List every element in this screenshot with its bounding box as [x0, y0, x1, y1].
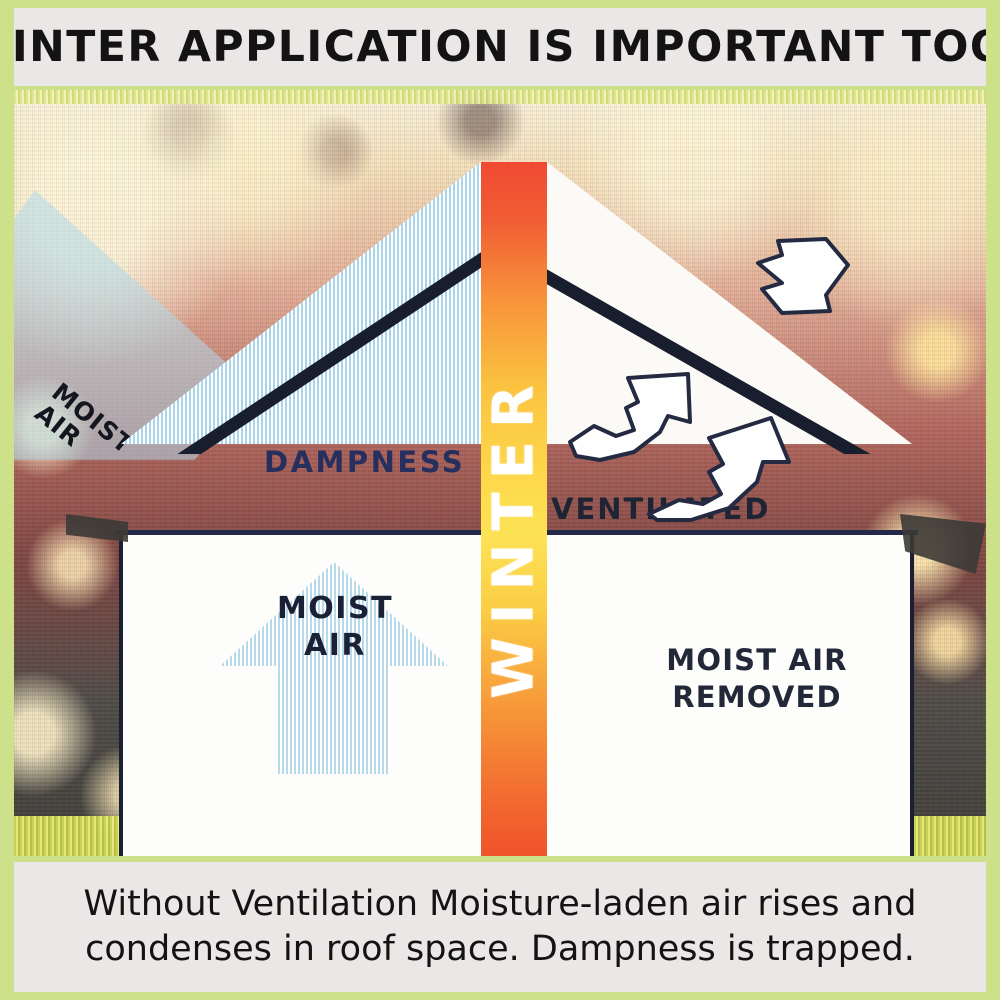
dampness-label: DAMPNESS	[264, 445, 465, 479]
diagram-illustration: MOIST AIR DAMPNESS VENTILATED	[14, 90, 986, 856]
exterior-exhaust-arrow-icon	[752, 233, 872, 328]
caption-line-2: condenses in roof space. Dampness is tra…	[85, 927, 915, 972]
background-top-strip	[14, 90, 986, 104]
title-band: WINTER APPLICATION IS IMPORTANT TOOL	[14, 8, 986, 86]
winter-season-label: WINTER	[481, 162, 547, 856]
moist-air-removed-label: MOIST AIR REMOVED	[612, 642, 902, 716]
page-title: WINTER APPLICATION IS IMPORTANT TOOL	[14, 22, 986, 72]
caption-band: Without Ventilation Moisture-laden air r…	[14, 862, 986, 992]
exterior-vent-lower-arrow-icon	[639, 410, 804, 525]
caption-line-1: Without Ventilation Moisture-laden air r…	[84, 882, 917, 927]
poster-root: WINTER APPLICATION IS IMPORTANT TOOL MOI…	[0, 0, 1000, 1000]
winter-season-bar: WINTER	[481, 162, 547, 856]
interior-moist-air-label: MOIST AIR	[250, 590, 420, 664]
